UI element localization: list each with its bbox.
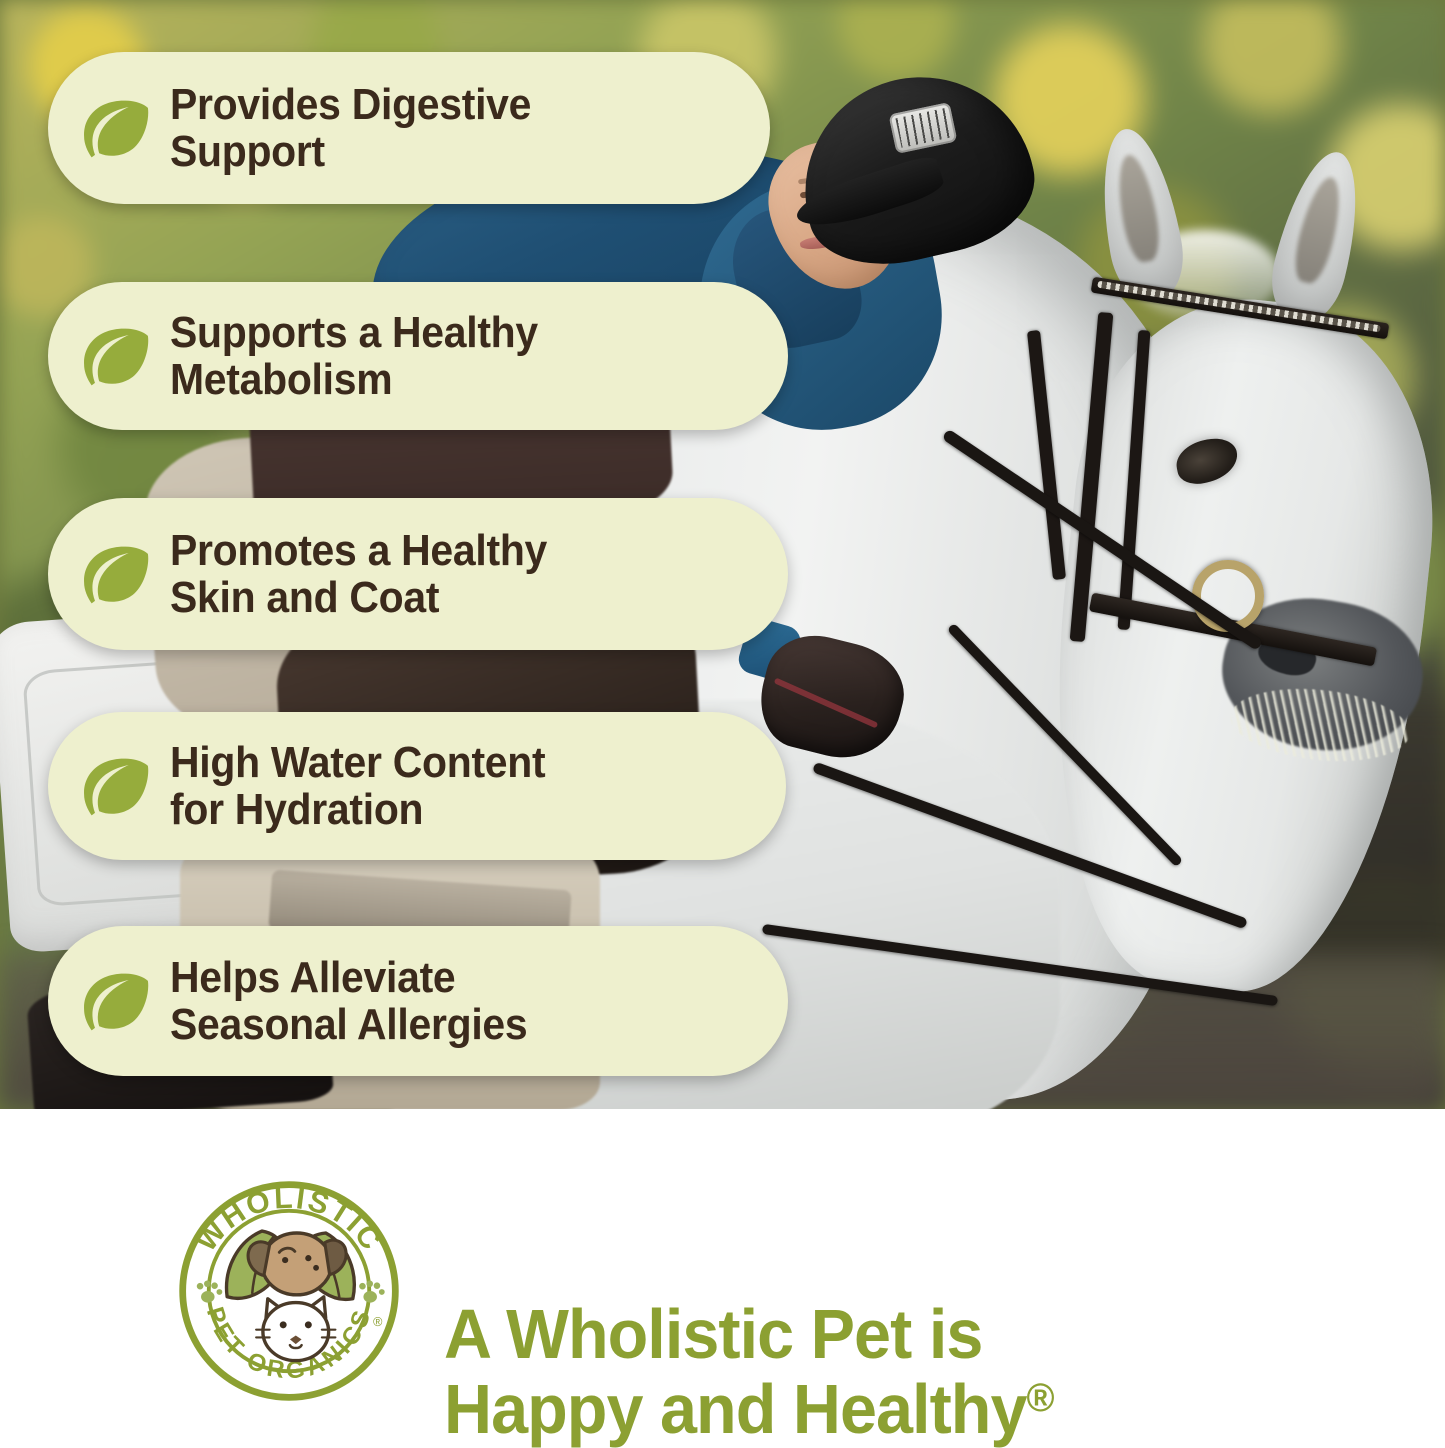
benefit-pill-1: Provides Digestive Support (48, 52, 770, 204)
benefit-pill-3: Promotes a Healthy Skin and Coat (48, 498, 788, 650)
benefit-text: Helps Alleviate Seasonal Allergies (170, 954, 527, 1048)
benefit-pill-5: Helps Alleviate Seasonal Allergies (48, 926, 788, 1076)
wholistic-pet-organics-logo: WHOLISTIC PET ORGANICS ® (170, 1175, 408, 1407)
logo-registered-mark: ® (373, 1315, 383, 1329)
brand-logo: WHOLISTIC PET ORGANICS ® (170, 1175, 408, 1407)
leaf-icon (74, 959, 158, 1043)
product-benefits-infographic: Provides Digestive Support Supports a He… (0, 0, 1445, 1413)
benefit-text: Promotes a Healthy Skin and Coat (170, 527, 547, 621)
benefit-pill-4: High Water Content for Hydration (48, 712, 786, 860)
benefit-pill-2: Supports a Healthy Metabolism (48, 282, 788, 430)
tagline-registered-mark: ® (1026, 1376, 1054, 1420)
benefit-text: Provides Digestive Support (170, 81, 531, 175)
benefit-text: High Water Content for Hydration (170, 739, 545, 833)
leaf-icon (74, 314, 158, 398)
leaf-icon (74, 532, 158, 616)
tagline-text: A Wholistic Pet is Happy and Healthy (444, 1295, 1026, 1448)
leaf-icon (74, 744, 158, 828)
leaf-icon (74, 86, 158, 170)
benefit-text: Supports a Healthy Metabolism (170, 309, 538, 403)
